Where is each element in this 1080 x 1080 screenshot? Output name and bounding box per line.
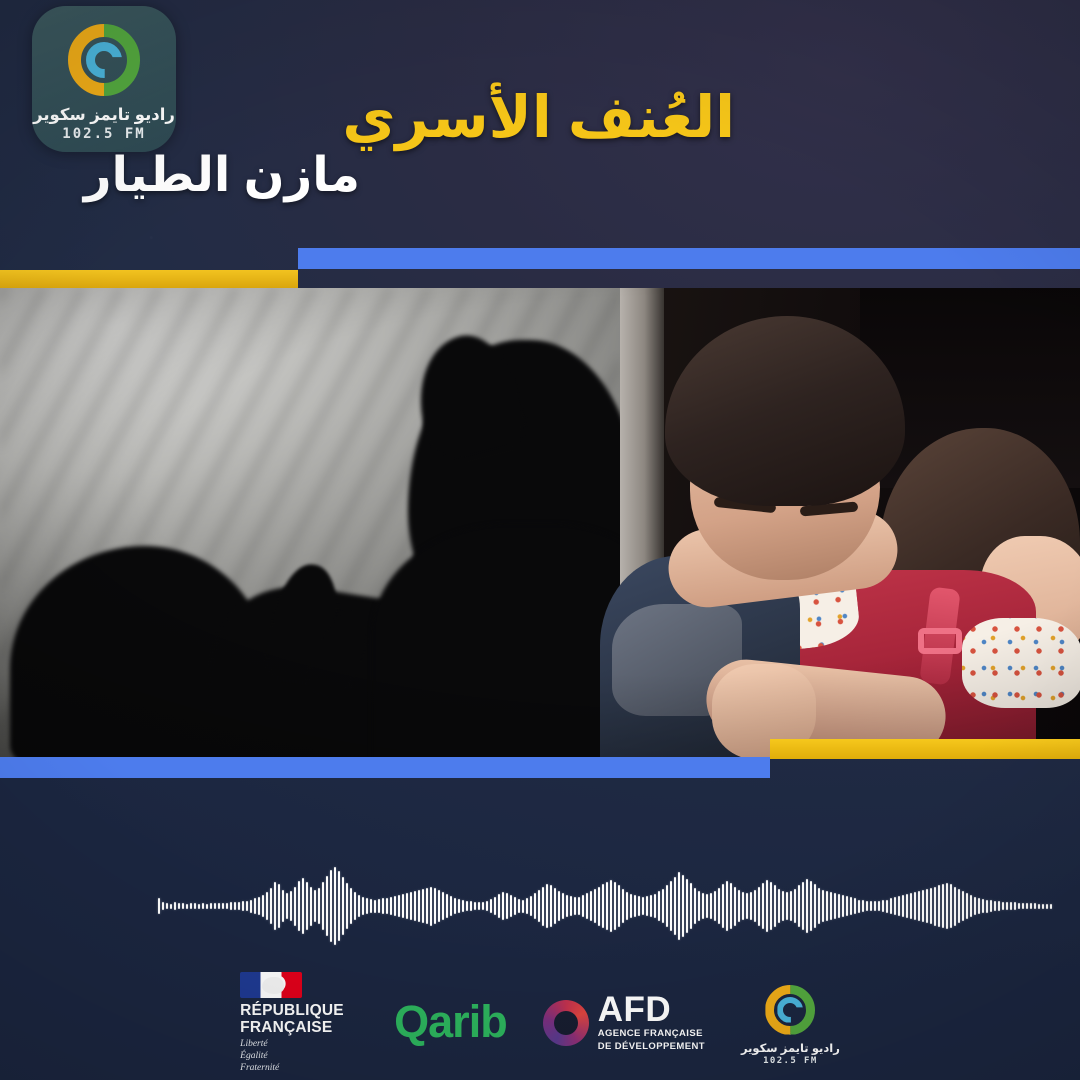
poster-canvas: TIMES SQUARE RADIO 102.5 FM راديو تايمز … <box>0 0 1080 1080</box>
poster-vignette <box>0 0 1080 1080</box>
